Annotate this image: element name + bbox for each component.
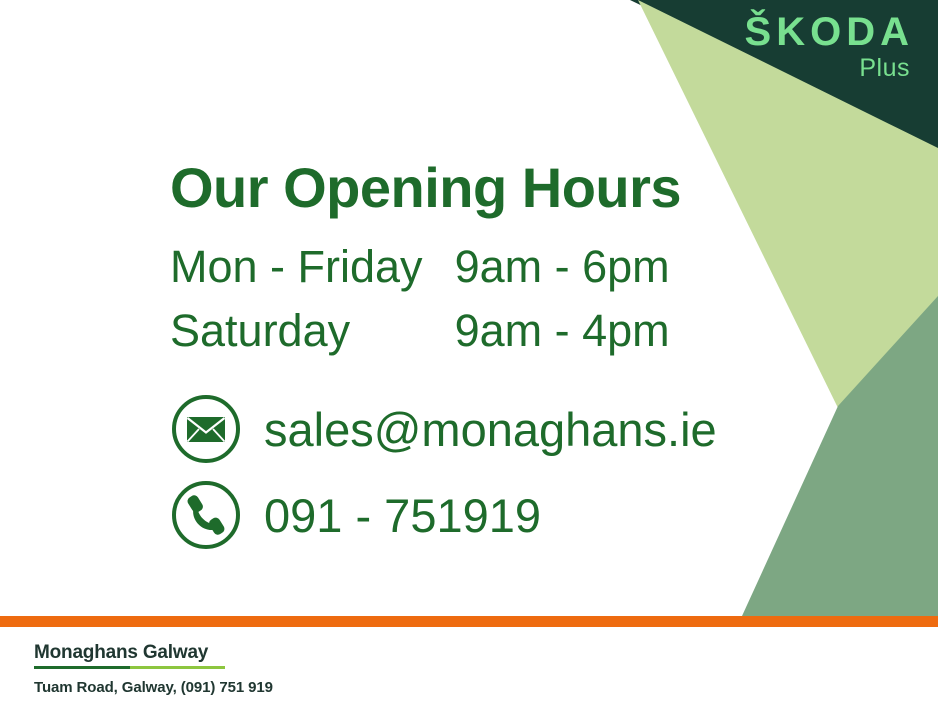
hours-time-value: 9am - 6pm [455, 242, 670, 306]
contact-phone-row[interactable]: 091 - 751919 [170, 479, 717, 551]
phone-number[interactable]: 091 - 751919 [264, 492, 541, 539]
main-content: Our Opening Hours Mon - Friday 9am - 6pm… [170, 160, 717, 551]
table-row: Saturday 9am - 4pm [170, 306, 670, 370]
footer: Monaghans Galway Tuam Road, Galway, (091… [34, 643, 273, 697]
footer-underline-left [34, 666, 130, 669]
sage-green-shape [742, 296, 938, 616]
skoda-plus-sublabel: Plus [745, 56, 910, 81]
envelope-icon [170, 393, 242, 465]
opening-hours-poster: ŠKODA Plus Our Opening Hours Mon - Frida… [0, 0, 938, 704]
hours-day-label: Mon - Friday [170, 242, 455, 306]
email-address[interactable]: sales@monaghans.ie [264, 406, 717, 453]
dealer-name: Monaghans Galway [34, 643, 273, 664]
opening-hours-table: Mon - Friday 9am - 6pm Saturday 9am - 4p… [170, 242, 670, 369]
phone-icon [170, 479, 242, 551]
skoda-plus-logo: ŠKODA Plus [745, 12, 914, 81]
dealer-address: Tuam Road, Galway, (091) 751 919 [34, 679, 273, 697]
skoda-wordmark: ŠKODA [745, 12, 914, 52]
page-title: Our Opening Hours [170, 160, 717, 216]
hours-time-value: 9am - 4pm [455, 306, 670, 370]
footer-underline-right [130, 666, 226, 669]
orange-divider-bar [0, 616, 938, 627]
footer-underline [34, 666, 225, 669]
table-row: Mon - Friday 9am - 6pm [170, 242, 670, 306]
contact-email-row[interactable]: sales@monaghans.ie [170, 393, 717, 465]
hours-day-label: Saturday [170, 306, 455, 370]
